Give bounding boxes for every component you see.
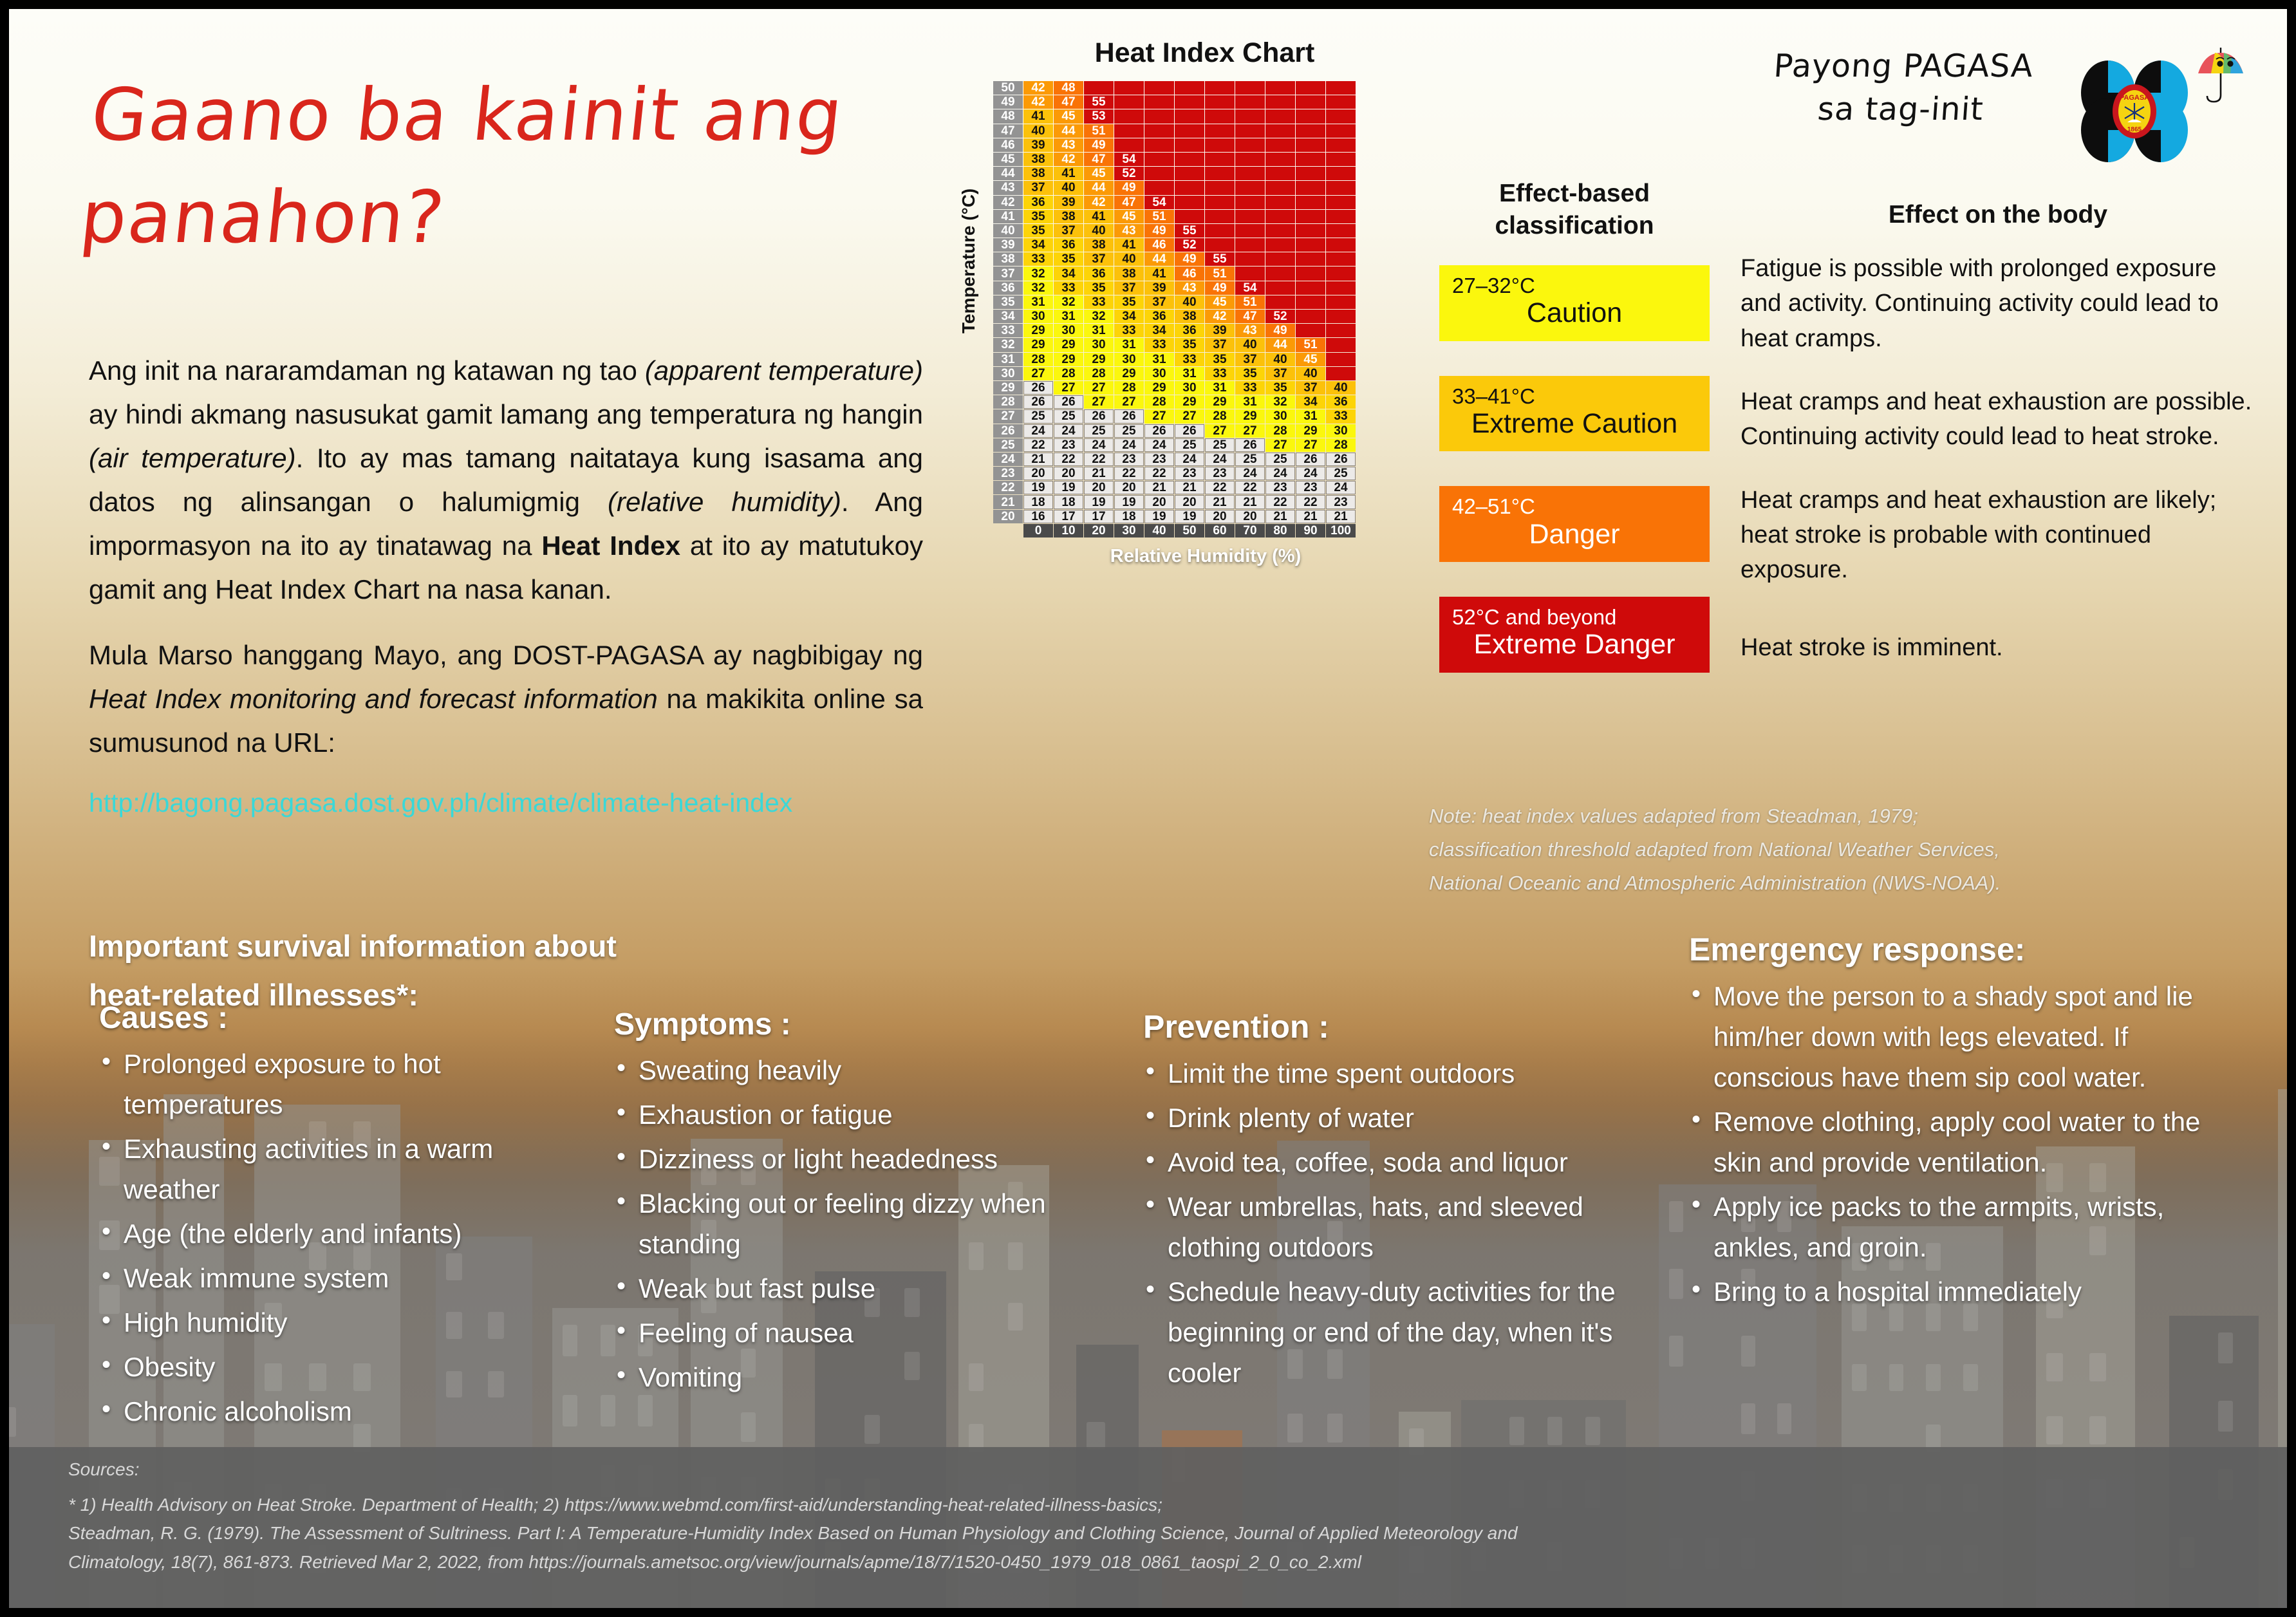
- heat-index-cell: [1326, 367, 1356, 380]
- heat-index-cell: 28: [1144, 395, 1174, 409]
- heat-index-cell: [1265, 167, 1295, 180]
- caution-range: 27–32°C: [1452, 274, 1697, 297]
- heat-index-cell: 29: [1054, 353, 1083, 366]
- heat-index-cell: 27: [1235, 424, 1265, 438]
- heat-index-cell: 35: [1175, 338, 1204, 351]
- window: [2046, 1353, 2063, 1382]
- heat-index-cell: 49: [1175, 252, 1204, 266]
- heat-index-cell: 23: [1175, 467, 1204, 480]
- heat-index-cell: 52: [1175, 238, 1204, 252]
- sources-line-2: Steadman, R. G. (1979). The Assessment o…: [68, 1519, 2192, 1548]
- heat-index-cell: [1144, 81, 1174, 95]
- causes-list: Prolonged exposure to hot temperaturesEx…: [99, 1043, 550, 1432]
- heat-index-cell: 32: [1084, 310, 1114, 323]
- heat-index-cell: [1084, 81, 1114, 95]
- heat-index-cell: [1296, 109, 1325, 123]
- temperature-row-header: 40: [993, 224, 1023, 238]
- classification-item-caution: 27–32°C Caution: [1439, 265, 1710, 341]
- table-corner: [993, 524, 1023, 537]
- heat-index-cell: 21: [1296, 510, 1325, 523]
- sources-line-3: Climatology, 18(7), 861-873. Retrieved M…: [68, 1548, 2192, 1577]
- heat-index-cell: 40: [1296, 367, 1325, 380]
- window: [1669, 1269, 1683, 1300]
- temperature-row-header: 38: [993, 252, 1023, 266]
- list-item: Schedule heavy-duty activities for the b…: [1143, 1271, 1658, 1393]
- heat-index-cell: 37: [1265, 367, 1295, 380]
- heat-index-cell: 22: [1205, 481, 1235, 494]
- temperature-row-header: 24: [993, 453, 1023, 466]
- heat-index-cell: 30: [1114, 353, 1144, 366]
- temperature-row-header: 35: [993, 295, 1023, 309]
- table-row: 40353740434955: [993, 224, 1356, 238]
- heat-index-cell: 25: [1054, 409, 1083, 423]
- window: [2046, 1416, 2063, 1445]
- heat-index-cell: [1175, 109, 1204, 123]
- heat-index-cell: 25: [1175, 438, 1204, 452]
- heat-index-cell: 41: [1023, 109, 1053, 123]
- table-row: 221919202021212222232324: [993, 481, 1356, 494]
- heat-index-cell: 24: [1054, 424, 1083, 438]
- table-row: 353132333537404551: [993, 295, 1356, 309]
- heat-index-cell: 43: [1054, 138, 1083, 152]
- table-row: 4337404449: [993, 181, 1356, 194]
- heat-index-cell: [1326, 281, 1356, 295]
- heat-index-cell: 29: [1175, 395, 1204, 409]
- intro-text: Ang init na nararamdaman ng katawan ng t…: [89, 349, 923, 825]
- heat-index-cell: 20: [1054, 467, 1083, 480]
- heat-index-cell: [1326, 266, 1356, 280]
- heat-index-cell: [1296, 324, 1325, 337]
- heat-index-cell: [1296, 181, 1325, 194]
- sources-line-1: * 1) Health Advisory on Heat Stroke. Dep…: [68, 1491, 2192, 1520]
- heat-index-cell: 29: [1023, 324, 1053, 337]
- heat-index-cell: [1235, 238, 1265, 252]
- table-row: 33293031333436394349: [993, 324, 1356, 337]
- list-item: Dizziness or light headedness: [614, 1139, 1103, 1179]
- heat-index-cell: 20: [1175, 495, 1204, 509]
- heat-index-cell: 45: [1114, 210, 1144, 223]
- heat-index-cell: 32: [1023, 281, 1053, 295]
- heat-index-cell: [1205, 196, 1235, 209]
- heat-index-cell: 25: [1235, 453, 1265, 466]
- heat-index-cell: 23: [1326, 495, 1356, 509]
- heat-index-cell: 37: [1114, 281, 1144, 295]
- heat-index-cell: [1235, 252, 1265, 266]
- heat-index-cell: 20: [1084, 481, 1114, 494]
- heat-index-cell: 19: [1175, 510, 1204, 523]
- heat-index-cell: [1235, 109, 1265, 123]
- heat-index-cell: 33: [1175, 353, 1204, 366]
- heat-index-cell: [1326, 224, 1356, 238]
- heat-index-cell: [1235, 196, 1265, 209]
- heat-index-cell: 44: [1265, 338, 1295, 351]
- heat-index-cell: [1175, 95, 1204, 109]
- table-row: 292627272829303133353740: [993, 381, 1356, 395]
- heat-index-cell: 36: [1084, 266, 1114, 280]
- table-row: 262424252526262727282930: [993, 424, 1356, 438]
- heat-index-cell: [1296, 281, 1325, 295]
- heat-index-cell: 44: [1084, 181, 1114, 194]
- danger-label: Danger: [1452, 519, 1697, 550]
- heat-index-cell: 49: [1084, 138, 1114, 152]
- heat-index-cell: [1235, 153, 1265, 166]
- heat-index-cell: 53: [1084, 109, 1114, 123]
- heat-index-cell: 40: [1326, 381, 1356, 395]
- heat-index-cell: 51: [1144, 210, 1174, 223]
- heat-index-cell: 55: [1084, 95, 1114, 109]
- heat-index-cell: 47: [1114, 196, 1144, 209]
- heat-index-cell: 47: [1084, 153, 1114, 166]
- heat-index-cell: 30: [1144, 367, 1174, 380]
- heat-index-cell: 25: [1326, 467, 1356, 480]
- heat-index-cell: [1326, 196, 1356, 209]
- heat-index-cell: 30: [1175, 381, 1204, 395]
- heat-index-cell: 41: [1144, 266, 1174, 280]
- list-item: Prolonged exposure to hot temperatures: [99, 1043, 550, 1125]
- heat-index-cell: 42: [1023, 95, 1053, 109]
- heat-index-cell: [1205, 238, 1235, 252]
- list-item: Age (the elderly and infants): [99, 1213, 550, 1254]
- heat-index-cell: 19: [1114, 495, 1144, 509]
- heat-index-cell: [1326, 238, 1356, 252]
- humidity-column-header: 30: [1114, 524, 1144, 537]
- heat-index-cell: 22: [1114, 467, 1144, 480]
- heat-index-cell: 30: [1326, 424, 1356, 438]
- humidity-column-header: 50: [1175, 524, 1204, 537]
- effects-heading: Effect on the body: [1741, 201, 2255, 229]
- causes-column: Causes : Prolonged exposure to hot tempe…: [99, 1000, 550, 1435]
- brand-line-2: sa tag-init: [1764, 91, 2037, 129]
- heat-index-cell: [1326, 109, 1356, 123]
- chart-y-axis-label: Temperature (°C): [954, 80, 984, 441]
- heat-index-cell: [1265, 153, 1295, 166]
- temperature-row-header: 37: [993, 266, 1023, 280]
- symptoms-column: Symptoms : Sweating heavilyExhaustion or…: [614, 1007, 1103, 1401]
- temperature-row-header: 29: [993, 381, 1023, 395]
- temperature-row-header: 50: [993, 81, 1023, 95]
- window: [601, 1325, 615, 1357]
- heat-index-cell: 24: [1114, 438, 1144, 452]
- window: [9, 1407, 16, 1437]
- heat-index-cell: 21: [1326, 510, 1356, 523]
- heat-index-cell: 24: [1326, 481, 1356, 494]
- heat-index-cell: 38: [1084, 238, 1114, 252]
- window: [601, 1395, 615, 1427]
- heat-index-cell: 55: [1205, 252, 1235, 266]
- heat-index-cell: [1235, 266, 1265, 280]
- svg-text:PAGASA: PAGASA: [2120, 94, 2149, 102]
- heat-index-cell: 23: [1144, 453, 1174, 466]
- intro-p1-bold: Heat Index: [541, 530, 680, 561]
- heat-index-cell: 21: [1084, 467, 1114, 480]
- heat-index-cell: 38: [1023, 153, 1053, 166]
- heat-index-cell: 43: [1114, 224, 1144, 238]
- heat-index-cell: [1296, 95, 1325, 109]
- heat-index-cell: 39: [1023, 138, 1053, 152]
- intro-p2-part-a: Mula Marso hanggang Mayo, ang DOST-PAGAS…: [89, 640, 923, 670]
- window: [1087, 1422, 1105, 1450]
- heat-index-cell: 28: [1054, 367, 1083, 380]
- window: [864, 1415, 880, 1444]
- heat-index-cell: 39: [1205, 324, 1235, 337]
- heat-index-cell: 21: [1265, 510, 1295, 523]
- heat-index-cell: 29: [1205, 395, 1235, 409]
- heat-index-cell: [1205, 138, 1235, 152]
- emergency-response-column: Emergency response: Move the person to a…: [1689, 931, 2236, 1316]
- list-item: Exhaustion or fatigue: [614, 1094, 1103, 1135]
- temperature-row-header: 41: [993, 210, 1023, 223]
- humidity-column-header: 40: [1144, 524, 1174, 537]
- heat-index-cell: 45: [1084, 167, 1114, 180]
- note-line-3: National Oceanic and Atmospheric Adminis…: [1429, 866, 2240, 900]
- heat-index-cell: 38: [1114, 266, 1144, 280]
- heat-index-cell: 32: [1265, 395, 1295, 409]
- table-row: 48414553: [993, 109, 1356, 123]
- window: [1889, 1364, 1904, 1392]
- table-row: 232020212222232324242425: [993, 467, 1356, 480]
- heat-index-cell: [1114, 124, 1144, 138]
- table-row: 211818191920202121222223: [993, 495, 1356, 509]
- chart-title: Heat Index Chart: [991, 37, 1419, 69]
- list-item: Avoid tea, coffee, soda and liquor: [1143, 1142, 1658, 1182]
- table-row: 39343638414652: [993, 238, 1356, 252]
- heat-index-cell: 28: [1265, 424, 1295, 438]
- heat-index-cell: [1265, 252, 1295, 266]
- heat-index-cell: [1265, 95, 1295, 109]
- window: [1509, 1417, 1524, 1445]
- heat-index-cell: 19: [1144, 510, 1174, 523]
- heat-index-cell: 49: [1205, 281, 1235, 295]
- intro-p2-italic-1: Heat Index monitoring and forecast infor…: [89, 684, 658, 714]
- heat-index-cell: 24: [1205, 453, 1235, 466]
- heat-index-cell: [1326, 210, 1356, 223]
- heat-index-cell: [1296, 124, 1325, 138]
- heat-index-cell: 25: [1205, 438, 1235, 452]
- heat-index-cell: 30: [1023, 310, 1053, 323]
- humidity-header-row: 0102030405060708090100: [993, 524, 1356, 537]
- heat-index-cell: 26: [1114, 409, 1144, 423]
- heat-index-cell: 20: [1235, 510, 1265, 523]
- heat-index-cell: [1175, 196, 1204, 209]
- sources-heading: Sources:: [68, 1455, 2192, 1484]
- heat-index-cell: 33: [1235, 381, 1265, 395]
- list-item: Bring to a hospital immediately: [1689, 1271, 2236, 1312]
- prevention-list: Limit the time spent outdoorsDrink plent…: [1143, 1053, 1658, 1393]
- temperature-row-header: 43: [993, 181, 1023, 194]
- heat-index-cell: 32: [1054, 295, 1083, 309]
- heat-index-cell: [1235, 124, 1265, 138]
- heat-index-cell: [1265, 81, 1295, 95]
- heat-index-cell: 20: [1205, 510, 1235, 523]
- symptoms-list: Sweating heavilyExhaustion or fatigueDiz…: [614, 1050, 1103, 1397]
- heat-index-cell: 33: [1084, 295, 1114, 309]
- list-item: Blacking out or feeling dizzy when stand…: [614, 1183, 1103, 1264]
- emergency-title: Emergency response:: [1689, 931, 2236, 968]
- page-title-line-2: panahon?: [75, 167, 987, 269]
- list-item: Obesity: [99, 1347, 550, 1387]
- heat-index-cell: 45: [1054, 109, 1083, 123]
- extreme-caution-range: 33–41°C: [1452, 385, 1697, 408]
- heat-index-cell: 31: [1296, 409, 1325, 423]
- heat-index-cell: 21: [1023, 453, 1053, 466]
- heat-index-cell: 43: [1235, 324, 1265, 337]
- heat-index-cell: 29: [1296, 424, 1325, 438]
- heat-index-cell: 54: [1235, 281, 1265, 295]
- heat-index-cell: 37: [1023, 181, 1053, 194]
- humidity-column-header: 10: [1054, 524, 1083, 537]
- heat-index-cell: 24: [1144, 438, 1174, 452]
- heat-index-cell: [1205, 167, 1235, 180]
- heat-index-cell: [1205, 95, 1235, 109]
- list-item: Move the person to a shady spot and lie …: [1689, 976, 2236, 1098]
- table-row: 46394349: [993, 138, 1356, 152]
- intro-p1-italic-1: (apparent temperature): [645, 355, 923, 386]
- table-row: 504248: [993, 81, 1356, 95]
- heat-index-cell: 29: [1114, 367, 1144, 380]
- heat-index-cell: 35: [1235, 367, 1265, 380]
- heat-index-cell: 21: [1175, 481, 1204, 494]
- list-item: Vomiting: [614, 1357, 1103, 1397]
- heat-index-cell: 42: [1084, 196, 1114, 209]
- humidity-column-header: 0: [1023, 524, 1053, 537]
- heat-index-cell: 21: [1205, 495, 1235, 509]
- heat-index-cell: 25: [1265, 453, 1295, 466]
- table-row: 3128292930313335374045: [993, 353, 1356, 366]
- intro-p1-italic-3: (relative humidity): [608, 487, 841, 517]
- heat-index-cell: [1144, 153, 1174, 166]
- heat-index-cell: [1144, 181, 1174, 194]
- heat-index-cell: 29: [1235, 409, 1265, 423]
- heat-index-cell: 31: [1175, 367, 1204, 380]
- heat-index-cell: [1235, 181, 1265, 194]
- temperature-row-header: 32: [993, 338, 1023, 351]
- extreme-danger-range: 52°C and beyond: [1452, 606, 1697, 629]
- window: [1741, 1403, 1755, 1434]
- heat-index-url-link[interactable]: http://bagong.pagasa.dost.gov.ph/climate…: [89, 781, 923, 824]
- heat-index-cell: 26: [1084, 409, 1114, 423]
- heat-index-cell: 36: [1326, 395, 1356, 409]
- heat-index-cell: [1326, 252, 1356, 266]
- humidity-column-header: 70: [1235, 524, 1265, 537]
- heat-index-cell: 29: [1144, 381, 1174, 395]
- heat-index-cell: 26: [1326, 453, 1356, 466]
- heat-index-cell: 27: [1084, 381, 1114, 395]
- heat-index-cell: 27: [1114, 395, 1144, 409]
- window: [1287, 1414, 1303, 1443]
- heat-index-cell: 24: [1265, 467, 1295, 480]
- heat-index-cell: 18: [1054, 495, 1083, 509]
- heat-index-cell: 32: [1023, 266, 1053, 280]
- list-item: Drink plenty of water: [1143, 1098, 1658, 1138]
- danger-range: 42–51°C: [1452, 495, 1697, 518]
- heat-index-cell: [1296, 196, 1325, 209]
- heat-index-cell: [1114, 95, 1144, 109]
- chart-x-axis-label: Relative Humidity (%): [993, 546, 1419, 567]
- emergency-list: Move the person to a shady spot and lie …: [1689, 976, 2236, 1312]
- heat-index-cell: 54: [1114, 153, 1144, 166]
- note-line-1: Note: heat index values adapted from Ste…: [1429, 799, 2240, 833]
- heat-index-cell: 35: [1205, 353, 1235, 366]
- heat-index-cell: 20: [1144, 495, 1174, 509]
- table-row: 4538424754: [993, 153, 1356, 166]
- temperature-row-header: 23: [993, 467, 1023, 480]
- heat-index-cell: 31: [1054, 310, 1083, 323]
- heat-index-cell: 26: [1296, 453, 1325, 466]
- heat-index-chart: Heat Index Chart Temperature (°C) 504248…: [955, 37, 1419, 567]
- heat-index-cell: 38: [1054, 210, 1083, 223]
- heat-index-cell: [1235, 167, 1265, 180]
- table-row: 49424755: [993, 95, 1356, 109]
- heat-index-cell: 40: [1265, 353, 1295, 366]
- heat-index-cell: 34: [1144, 324, 1174, 337]
- heat-index-cell: [1265, 109, 1295, 123]
- heat-index-cell: [1205, 224, 1235, 238]
- heat-index-cell: 45: [1296, 353, 1325, 366]
- window: [1741, 1336, 1755, 1367]
- temperature-row-header: 26: [993, 424, 1023, 438]
- heat-index-cell: [1326, 167, 1356, 180]
- heat-index-cell: 35: [1054, 252, 1083, 266]
- temperature-row-header: 36: [993, 281, 1023, 295]
- classification-heading-line-1: Effect-based: [1439, 178, 1710, 210]
- classification-item-extreme-danger: 52°C and beyond Extreme Danger: [1439, 597, 1710, 673]
- causes-title: Causes :: [99, 1000, 550, 1036]
- effect-on-the-body: Effect on the body Fatigue is possible w…: [1741, 201, 2255, 693]
- heat-index-cell: 49: [1114, 181, 1144, 194]
- heat-index-cell: [1114, 138, 1144, 152]
- caution-label: Caution: [1452, 297, 1697, 329]
- heat-index-cell: [1296, 167, 1325, 180]
- heat-index-cell: 27: [1296, 438, 1325, 452]
- list-item: Apply ice packs to the armpits, wrists, …: [1689, 1186, 2236, 1267]
- table-row: 3732343638414651: [993, 266, 1356, 280]
- table-row: 3027282829303133353740: [993, 367, 1356, 380]
- heat-index-cell: [1265, 196, 1295, 209]
- heat-index-cell: 22: [1023, 438, 1053, 452]
- window: [1963, 1364, 1978, 1392]
- table-row: 423639424754: [993, 196, 1356, 209]
- heat-index-cell: 36: [1023, 196, 1053, 209]
- heat-index-cell: [1326, 124, 1356, 138]
- table-row: 3833353740444955: [993, 252, 1356, 266]
- humidity-column-header: 80: [1265, 524, 1295, 537]
- heat-index-cell: [1175, 124, 1204, 138]
- heat-index-cell: 40: [1235, 338, 1265, 351]
- heat-index-cell: 31: [1084, 324, 1114, 337]
- heat-index-cell: [1144, 95, 1174, 109]
- heat-index-cell: 28: [1114, 381, 1144, 395]
- list-item: Limit the time spent outdoors: [1143, 1053, 1658, 1094]
- heat-index-cell: 30: [1054, 324, 1083, 337]
- temperature-row-header: 47: [993, 124, 1023, 138]
- heat-index-cell: [1296, 81, 1325, 95]
- symptoms-title: Symptoms :: [614, 1007, 1103, 1042]
- heat-index-cell: 23: [1054, 438, 1083, 452]
- table-row: 201617171819192020212121: [993, 510, 1356, 523]
- heat-index-cell: [1205, 109, 1235, 123]
- heat-index-cell: 18: [1114, 510, 1144, 523]
- heat-index-cell: 26: [1175, 424, 1204, 438]
- heat-index-cell: 38: [1175, 310, 1204, 323]
- heat-index-cell: [1235, 210, 1265, 223]
- table-row: 4438414552: [993, 167, 1356, 180]
- window: [1327, 1414, 1343, 1443]
- heat-index-cell: 21: [1235, 495, 1265, 509]
- heat-index-cell: 52: [1114, 167, 1144, 180]
- heat-index-cell: 18: [1023, 495, 1053, 509]
- heat-index-cell: 47: [1054, 95, 1083, 109]
- heat-index-cell: 35: [1023, 210, 1053, 223]
